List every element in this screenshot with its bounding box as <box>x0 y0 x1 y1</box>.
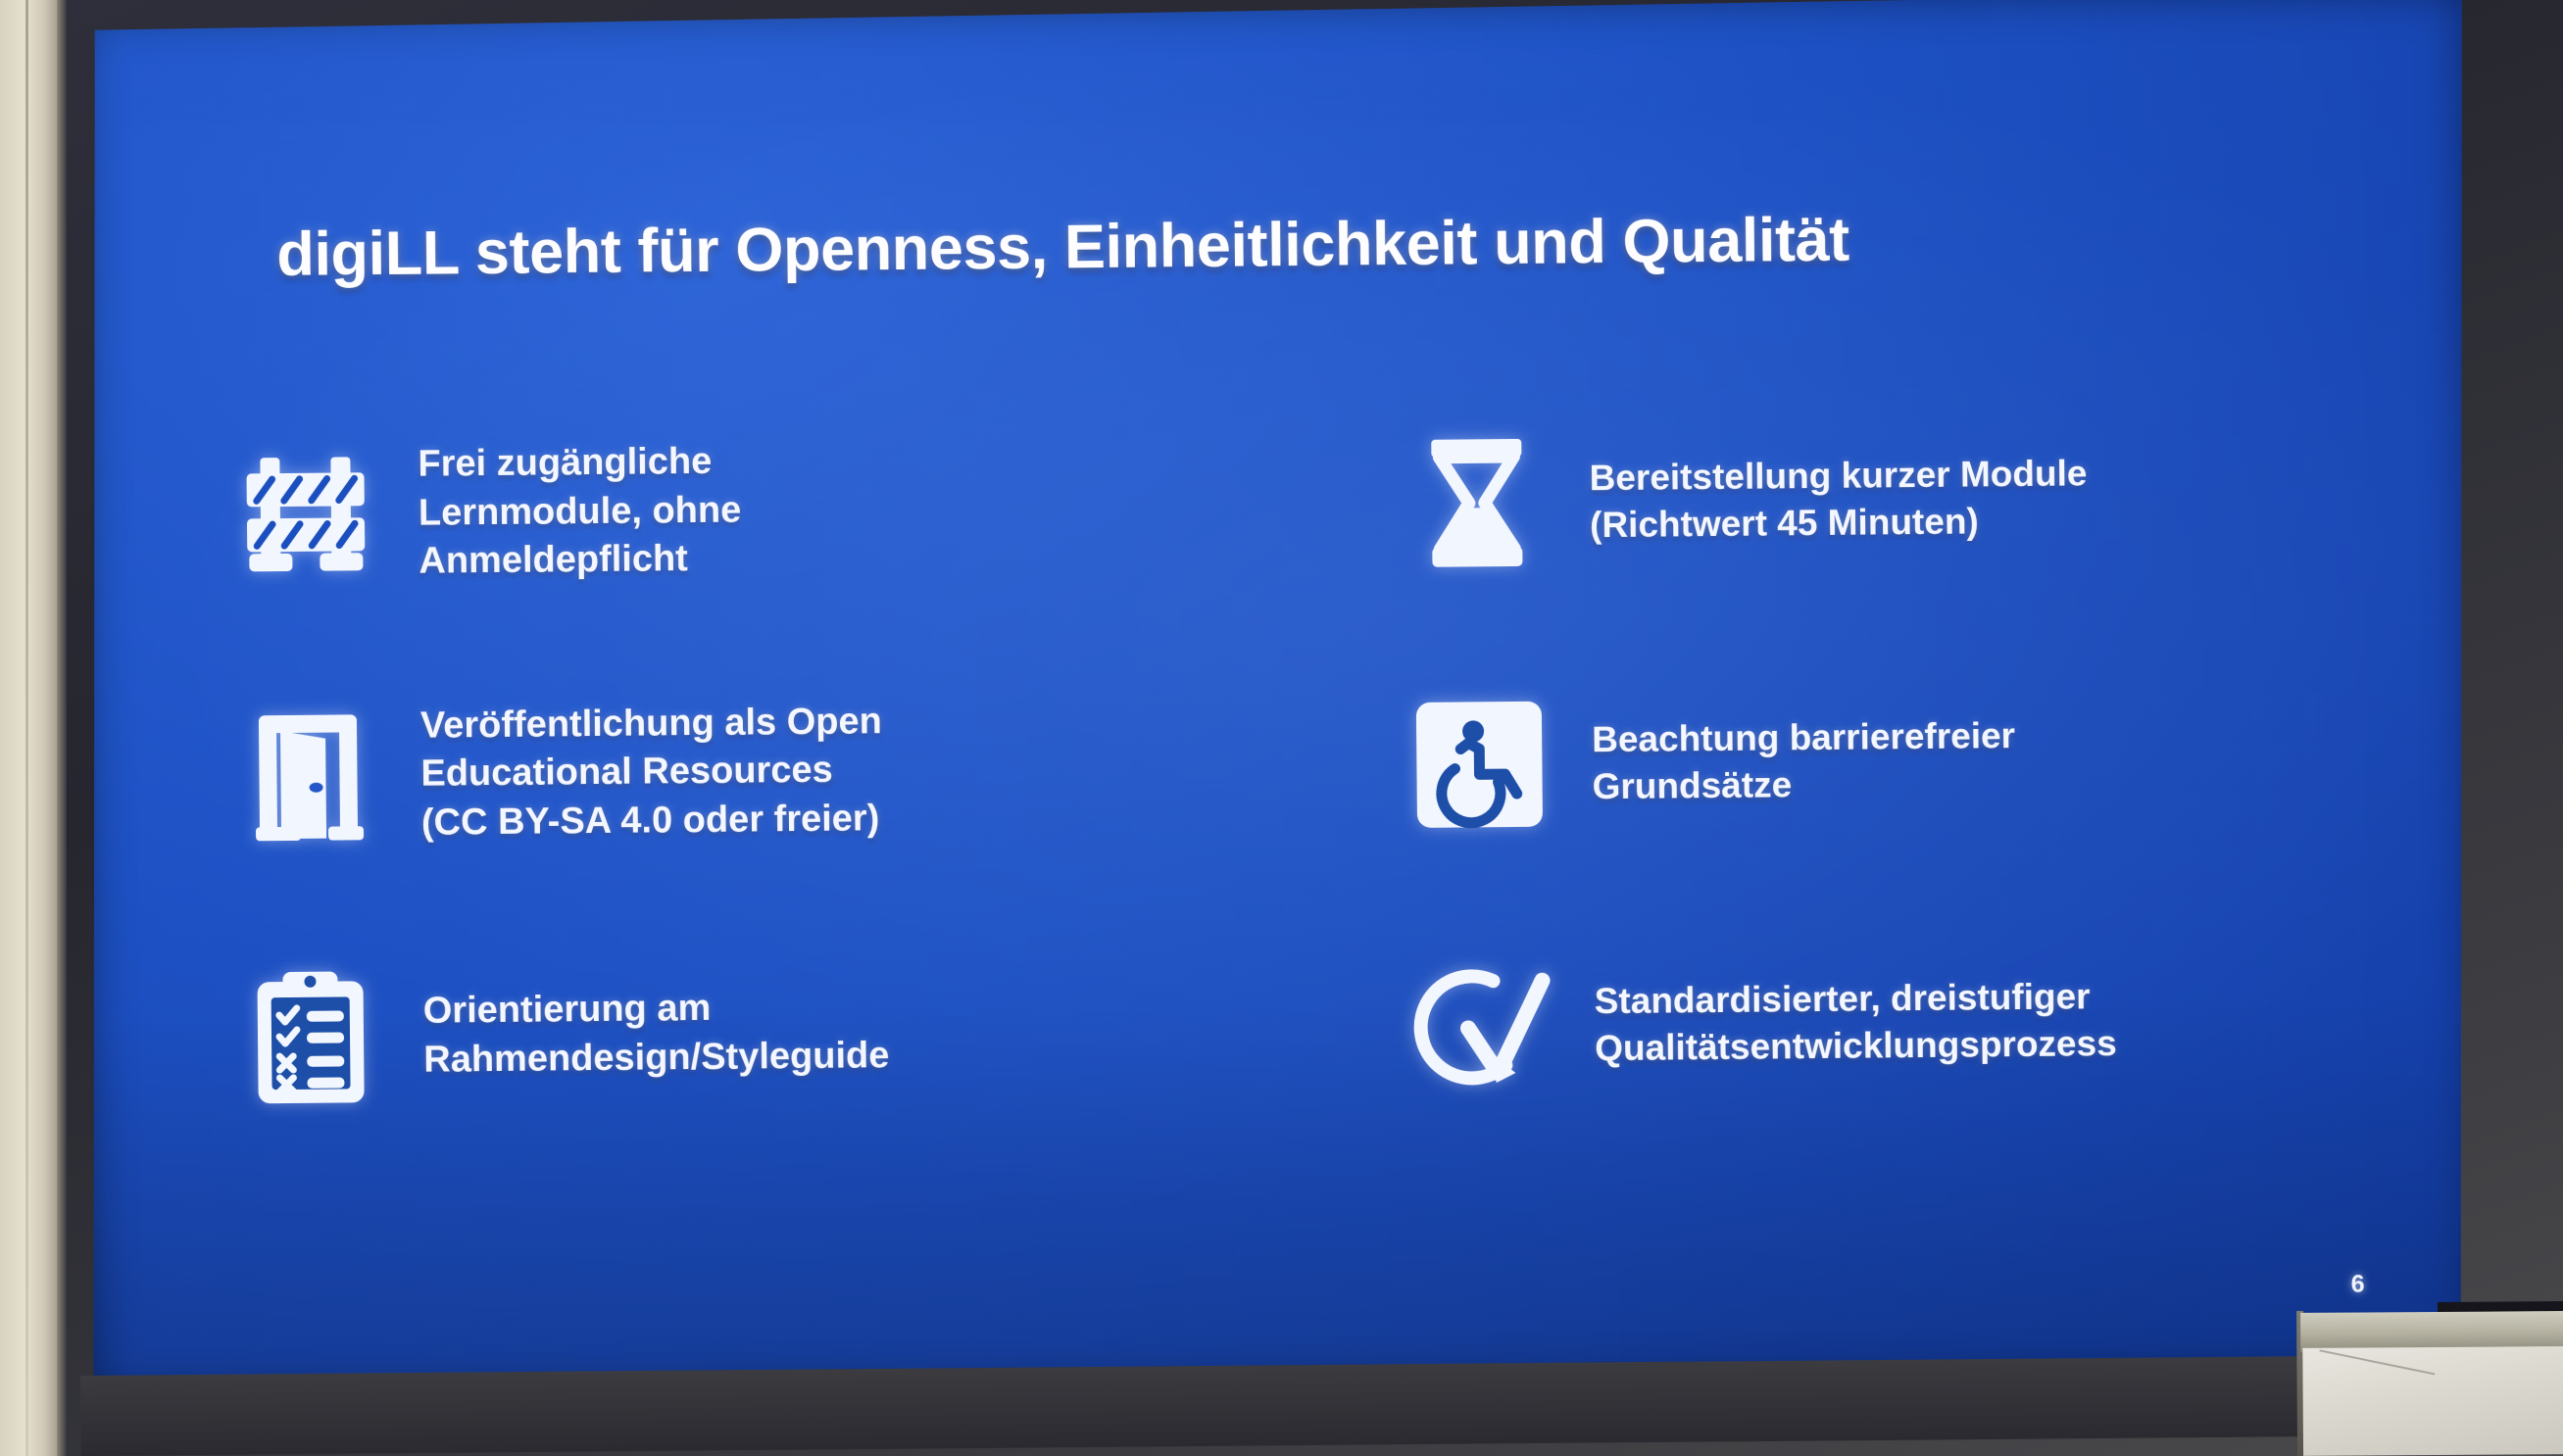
hourglass-icon <box>1403 429 1551 577</box>
flipchart-paper <box>2302 1346 2563 1456</box>
feature-item-label: Bereitstellung kurzer Module (Richtwert … <box>1589 451 2088 550</box>
feature-item-label: Orientierung am Rahmendesign/Styleguide <box>423 983 890 1084</box>
presentation-slide-wrapper: digiLL steht für Openness, Einheitlichke… <box>80 0 2476 1421</box>
feature-item-label: Standardisierter, dreistufiger Qualitäts… <box>1595 973 2117 1072</box>
slide-content: digiLL steht für Openness, Einheitlichke… <box>80 0 2475 1397</box>
feature-item-accessibility: Beachtung barrierefreier Grundsätze <box>1336 625 2441 897</box>
road-barrier-icon <box>231 440 379 588</box>
projected-slide-photo: digiLL steht für Openness, Einheitlichke… <box>0 0 2563 1456</box>
presentation-slide: digiLL steht für Openness, Einheitlichke… <box>80 0 2475 1397</box>
circular-arrow-checkmark-icon <box>1407 951 1555 1099</box>
room-wall-left <box>0 0 57 1456</box>
slide-title: digiLL steht für Openness, Einheitlichke… <box>276 200 2365 290</box>
feature-item-open-access: Frei zugängliche Lernmodule, ohne Anmeld… <box>231 374 1337 646</box>
feature-item-module-length: Bereitstellung kurzer Module (Richtwert … <box>1334 364 2440 635</box>
feature-grid: Frei zugängliche Lernmodule, ohne Anmeld… <box>231 364 2444 1169</box>
open-door-icon <box>234 702 382 849</box>
flipchart-board <box>2291 1301 2563 1456</box>
feature-item-oer-license: Veröffentlichung als Open Educational Re… <box>233 635 1339 906</box>
feature-item-label: Frei zugängliche Lernmodule, ohne Anmeld… <box>418 438 742 586</box>
feature-item-quality-process: Standardisierter, dreistufiger Qualitäts… <box>1339 886 2444 1157</box>
slide-page-number: 6 <box>2351 1271 2365 1299</box>
feature-item-label: Veröffentlichung als Open Educational Re… <box>420 698 883 848</box>
clipboard-checklist-icon <box>236 963 384 1111</box>
feature-item-styleguide: Orientierung am Rahmendesign/Styleguide <box>236 897 1342 1168</box>
wheelchair-accessibility-icon <box>1405 691 1553 839</box>
wall-seam <box>25 0 28 1456</box>
feature-item-label: Beachtung barrierefreier Grundsätze <box>1592 712 2016 810</box>
